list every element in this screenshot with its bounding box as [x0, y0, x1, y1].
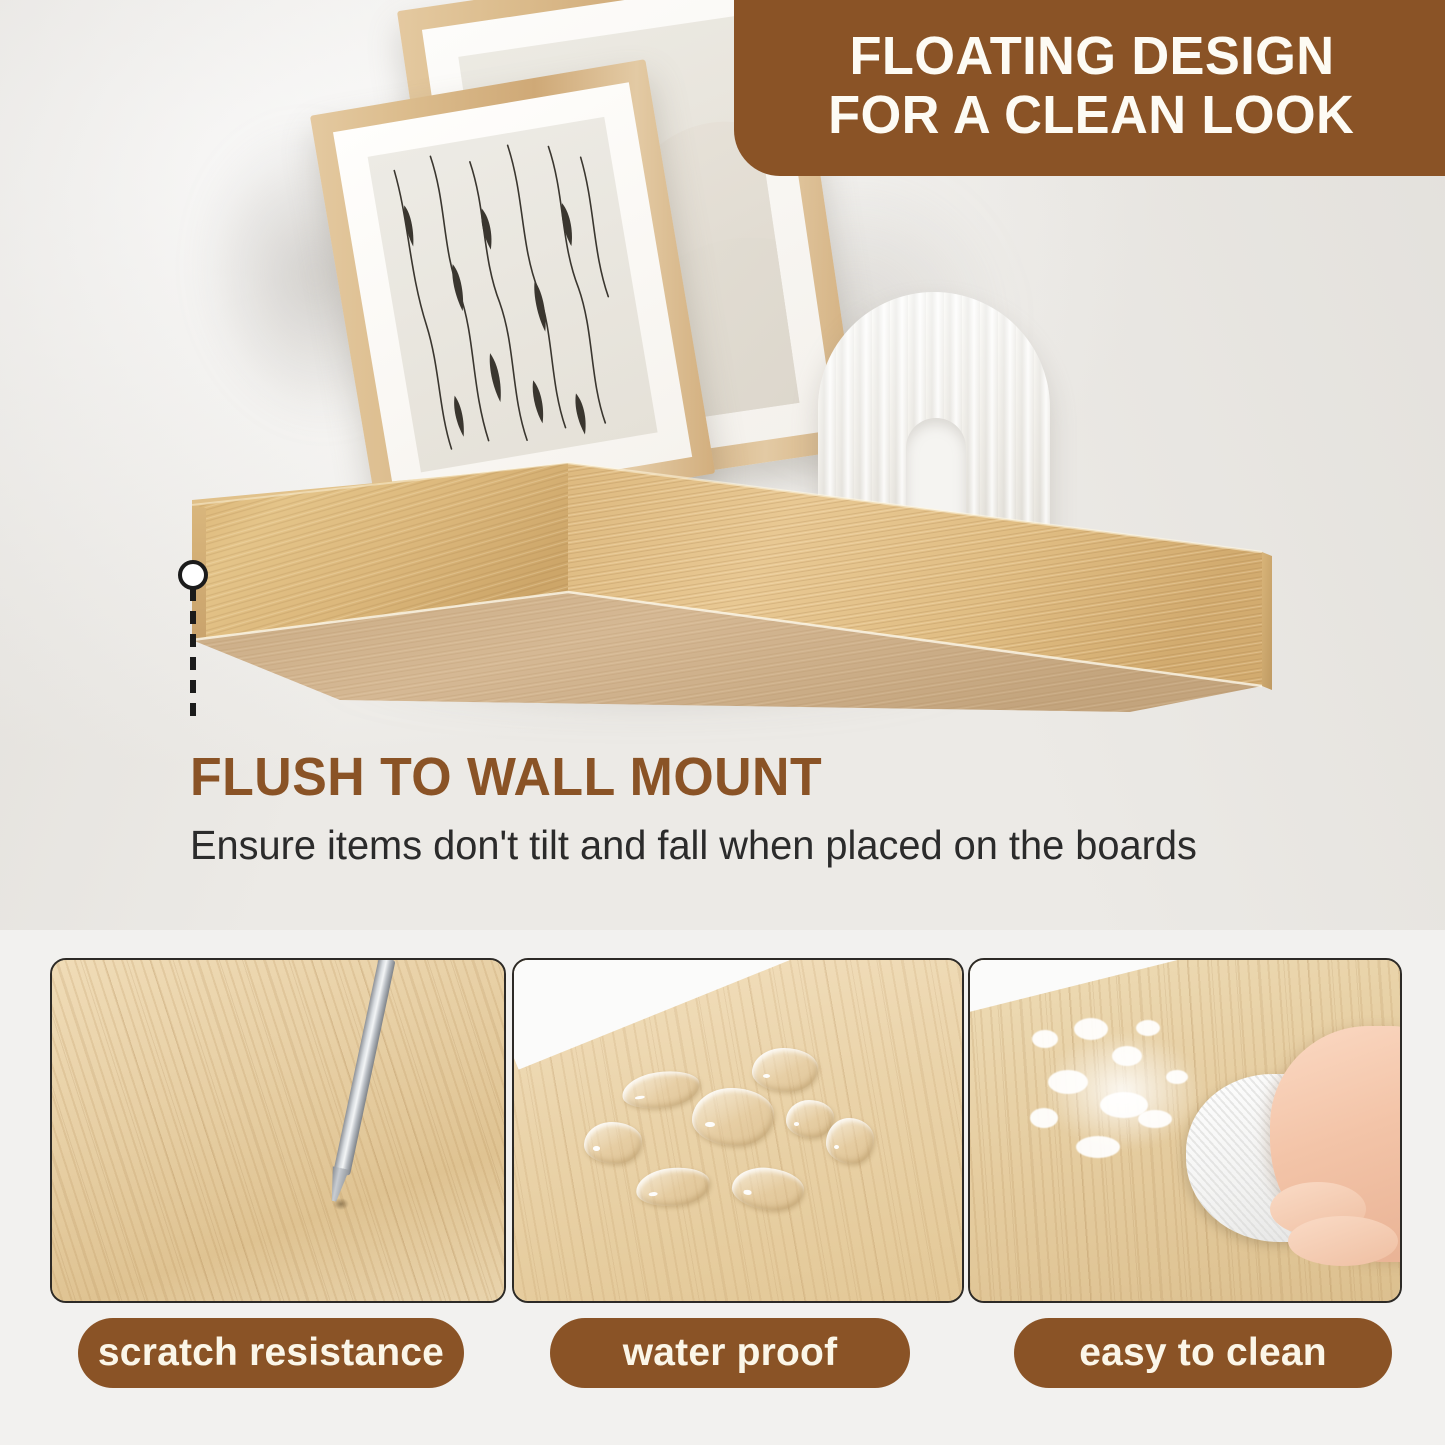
floating-design-banner: FLOATING DESIGN FOR A CLEAN LOOK: [734, 0, 1445, 176]
feature-image-water: [512, 958, 964, 1303]
arch-vase: [818, 292, 1050, 538]
feature-badges: scratch resistance water proof easy to c…: [0, 1318, 1445, 1390]
shelf-cast-shadow: [195, 610, 1125, 730]
feature-panels: [0, 958, 1445, 1303]
badge-scratch-resistance[interactable]: scratch resistance: [78, 1318, 464, 1388]
water-drop-icon: [752, 1048, 818, 1092]
wood-surface: [52, 960, 504, 1301]
badge-label: water proof: [623, 1331, 838, 1375]
picture-frame-front: [310, 59, 715, 530]
arch-vase-opening: [906, 418, 966, 548]
water-drop-icon: [826, 1118, 874, 1164]
scratch-mark: [333, 1198, 349, 1210]
water-drop-icon: [584, 1122, 642, 1164]
callout-dashed-line: [190, 588, 196, 720]
banner-line-2: FOR A CLEAN LOOK: [828, 86, 1354, 145]
feature-image-scratch: [50, 958, 506, 1303]
banner-line-1: FLOATING DESIGN: [849, 27, 1334, 86]
badge-water-proof[interactable]: water proof: [550, 1318, 910, 1388]
page-headline: FLUSH TO WALL MOUNT: [190, 746, 822, 808]
badge-easy-to-clean[interactable]: easy to clean: [1014, 1318, 1392, 1388]
feature-image-clean: [968, 958, 1402, 1303]
page-subheadline: Ensure items don't tilt and fall when pl…: [190, 822, 1197, 869]
product-infographic: FLOATING DESIGN FOR A CLEAN LOOK FLUSH T…: [0, 0, 1445, 1445]
badge-label: scratch resistance: [98, 1331, 444, 1375]
water-drop-icon: [692, 1088, 774, 1146]
badge-label: easy to clean: [1079, 1331, 1327, 1375]
water-drop-icon: [786, 1100, 834, 1138]
dot-marker-icon: [178, 560, 208, 590]
